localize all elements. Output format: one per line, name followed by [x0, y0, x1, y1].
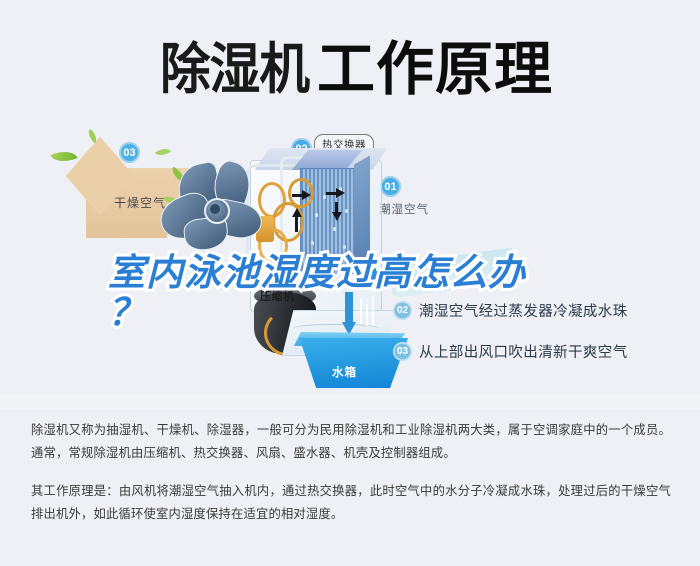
legend-item: 03 从上部出风口吹出清新干爽空气 — [393, 341, 693, 362]
water-drain-arrow-icon — [342, 292, 355, 336]
legend-text-03: 从上部出风口吹出清新干爽空气 — [419, 341, 628, 362]
header: 除湿机工作原理 — [0, 0, 700, 118]
fan-propeller-icon — [160, 160, 268, 256]
dry-air-label: 干燥空气 — [114, 194, 166, 211]
legend-item: 02 潮湿空气经过蒸发器冷凝成水珠 — [393, 300, 693, 321]
water-tank-icon — [296, 338, 408, 388]
legend-text-02: 潮湿空气经过蒸发器冷凝成水珠 — [419, 300, 628, 321]
page-title-part2: 工作原理 — [317, 22, 553, 106]
air-intake-arrow-icon — [364, 268, 410, 281]
legend-badge-02: 02 — [393, 301, 412, 320]
legend-list: 02 潮湿空气经过蒸发器冷凝成水珠 03 从上部出风口吹出清新干爽空气 — [393, 300, 693, 382]
water-tank-label: 水箱 — [332, 364, 357, 380]
flow-arrow-up-icon — [292, 208, 302, 217]
flow-arrow-right-icon — [302, 190, 311, 200]
infographic-page: 除湿机工作原理 干燥空气 03 02 01 热交换器 潮湿空气 — [0, 0, 700, 566]
flow-arrow-right-icon — [336, 188, 345, 198]
page-title-part1: 除湿机 — [160, 24, 309, 104]
diagram-badge-03: 03 — [119, 142, 140, 163]
compressor-label: 压缩机 — [260, 288, 295, 304]
flow-arrow-down-icon — [332, 212, 342, 221]
body-paragraph-2: 其工作原理是：由风机将潮湿空气抽入机内，通过热交换器，此时空气中的水分子冷凝成水… — [31, 480, 671, 526]
body-paragraph-1: 除湿机又称为抽湿机、干燥机、除湿器，一般可分为民用除湿机和工业除湿机两大类，属于… — [31, 419, 671, 465]
legend-badge-03: 03 — [393, 342, 412, 361]
body-text-section: 除湿机又称为抽湿机、干燥机、除湿器，一般可分为民用除湿机和工业除湿机两大类，属于… — [0, 395, 700, 566]
page-title: 除湿机工作原理 — [0, 22, 700, 106]
